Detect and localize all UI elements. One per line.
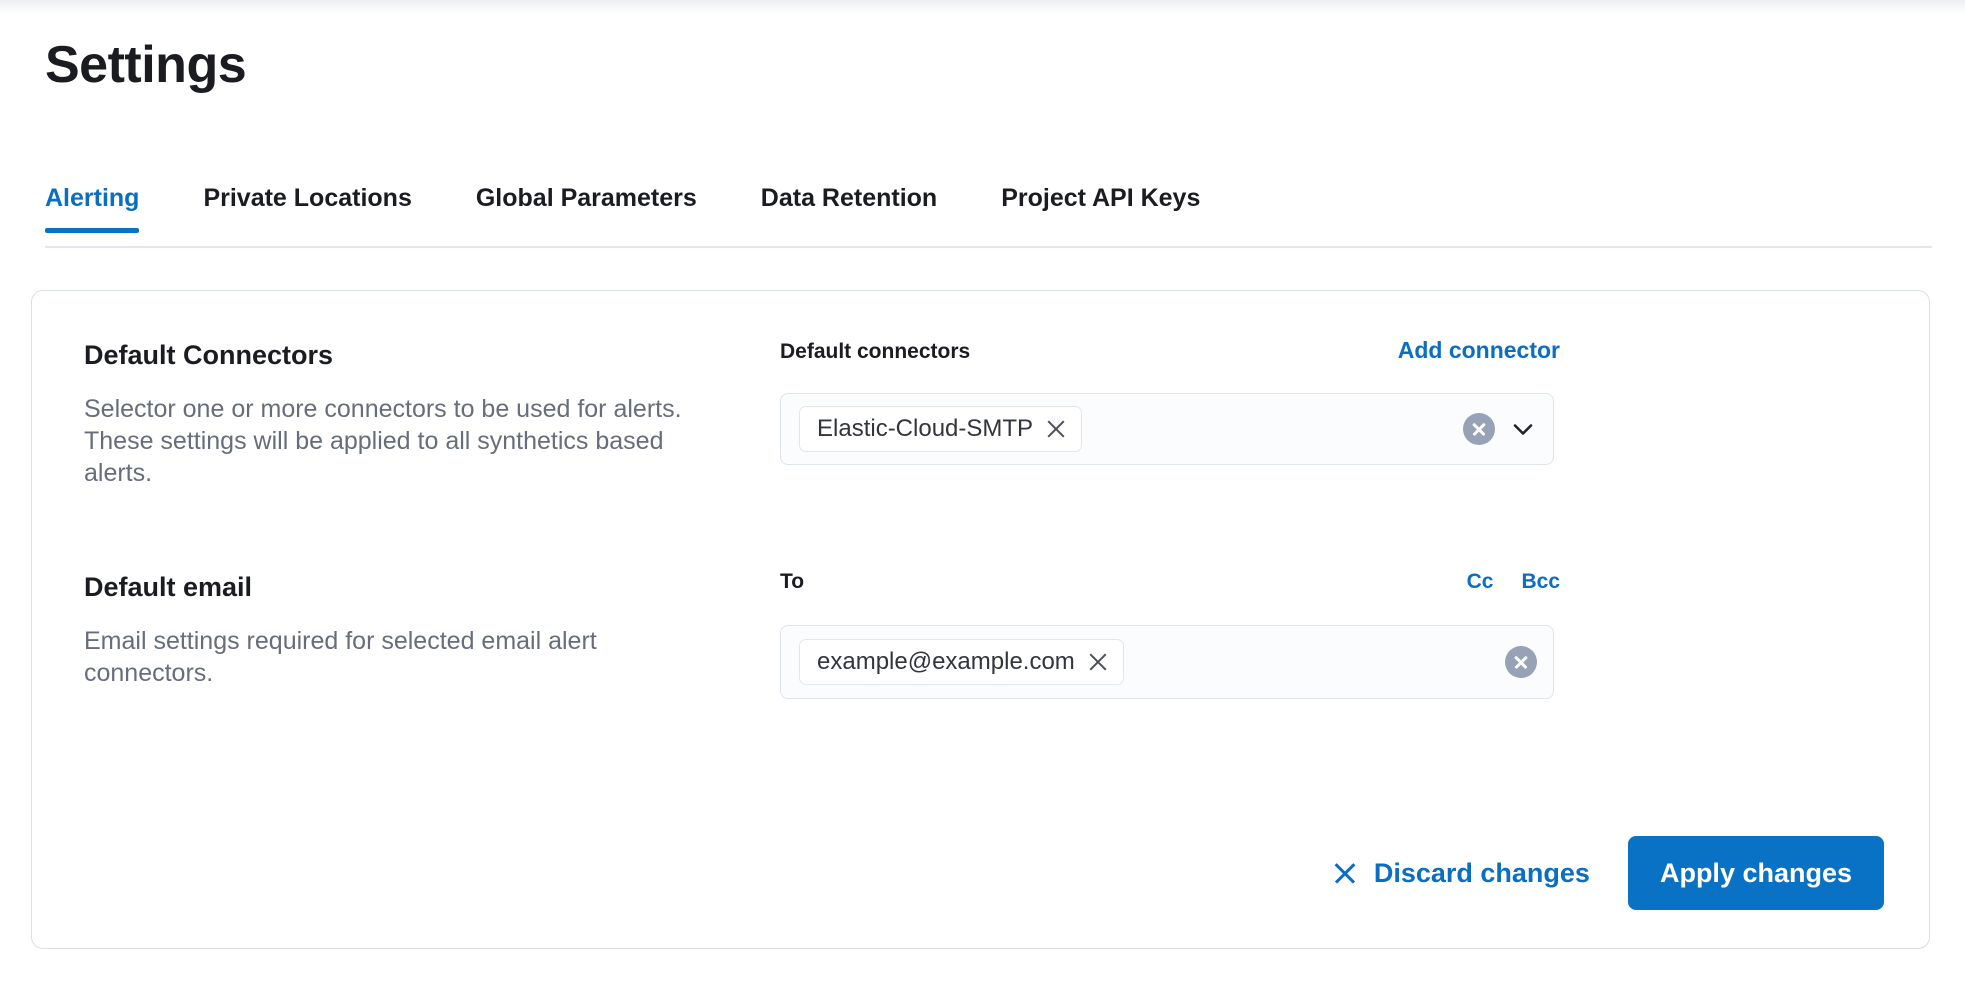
- add-connector-link[interactable]: Add connector: [1398, 339, 1560, 362]
- email-field-header: To Cc Bcc: [780, 571, 1560, 601]
- top-chrome-shadow: [0, 0, 1965, 14]
- bcc-link[interactable]: Bcc: [1521, 571, 1560, 592]
- page-title: Settings: [45, 36, 246, 96]
- section-connectors-title: Default Connectors: [84, 339, 714, 371]
- section-default-email: Default email Email settings required fo…: [84, 571, 1874, 699]
- clear-connectors-icon[interactable]: [1463, 413, 1495, 445]
- section-default-connectors: Default Connectors Selector one or more …: [84, 339, 1874, 489]
- remove-email-icon[interactable]: [1087, 651, 1109, 673]
- close-icon: [1332, 860, 1358, 886]
- email-to-combobox[interactable]: example@example.com: [780, 625, 1554, 699]
- connectors-field-block: Default connectors Add connector Elastic…: [780, 339, 1560, 489]
- section-email-description-block: Default email Email settings required fo…: [84, 571, 744, 699]
- default-connectors-combobox[interactable]: Elastic-Cloud-SMTP: [780, 393, 1554, 465]
- connectors-field-label: Default connectors: [780, 341, 970, 362]
- email-cc-bcc-links: Cc Bcc: [1467, 571, 1560, 592]
- discard-changes-button[interactable]: Discard changes: [1318, 848, 1604, 899]
- settings-page: Settings Alerting Private Locations Glob…: [0, 0, 1965, 989]
- section-email-title: Default email: [84, 571, 714, 603]
- email-pill[interactable]: example@example.com: [799, 639, 1124, 685]
- tab-project-api-keys[interactable]: Project API Keys: [1001, 186, 1200, 231]
- cc-link[interactable]: Cc: [1467, 571, 1494, 592]
- email-to-label: To: [780, 571, 804, 592]
- email-combobox-actions: [1505, 646, 1537, 678]
- connector-pill[interactable]: Elastic-Cloud-SMTP: [799, 406, 1082, 452]
- section-connectors-description-block: Default Connectors Selector one or more …: [84, 339, 744, 489]
- section-connectors-description: Selector one or more connectors to be us…: [84, 393, 684, 489]
- email-field-block: To Cc Bcc example@example.com: [780, 571, 1560, 699]
- settings-tabs: Alerting Private Locations Global Parame…: [45, 186, 1932, 248]
- apply-changes-button[interactable]: Apply changes: [1628, 836, 1884, 910]
- email-pill-label: example@example.com: [817, 648, 1075, 676]
- section-email-description: Email settings required for selected ema…: [84, 625, 684, 689]
- remove-connector-icon[interactable]: [1045, 418, 1067, 440]
- clear-emails-icon[interactable]: [1505, 646, 1537, 678]
- connectors-combobox-actions: [1463, 413, 1537, 445]
- chevron-down-icon[interactable]: [1509, 415, 1537, 443]
- discard-changes-label: Discard changes: [1374, 858, 1590, 889]
- card-footer-actions: Discard changes Apply changes: [1318, 836, 1884, 910]
- tab-alerting[interactable]: Alerting: [45, 186, 139, 231]
- connectors-field-header: Default connectors Add connector: [780, 339, 1560, 369]
- tab-private-locations[interactable]: Private Locations: [203, 186, 411, 231]
- tab-data-retention[interactable]: Data Retention: [761, 186, 937, 231]
- tab-global-parameters[interactable]: Global Parameters: [476, 186, 697, 231]
- connector-pill-label: Elastic-Cloud-SMTP: [817, 415, 1033, 443]
- alerting-settings-card: Default Connectors Selector one or more …: [31, 290, 1930, 949]
